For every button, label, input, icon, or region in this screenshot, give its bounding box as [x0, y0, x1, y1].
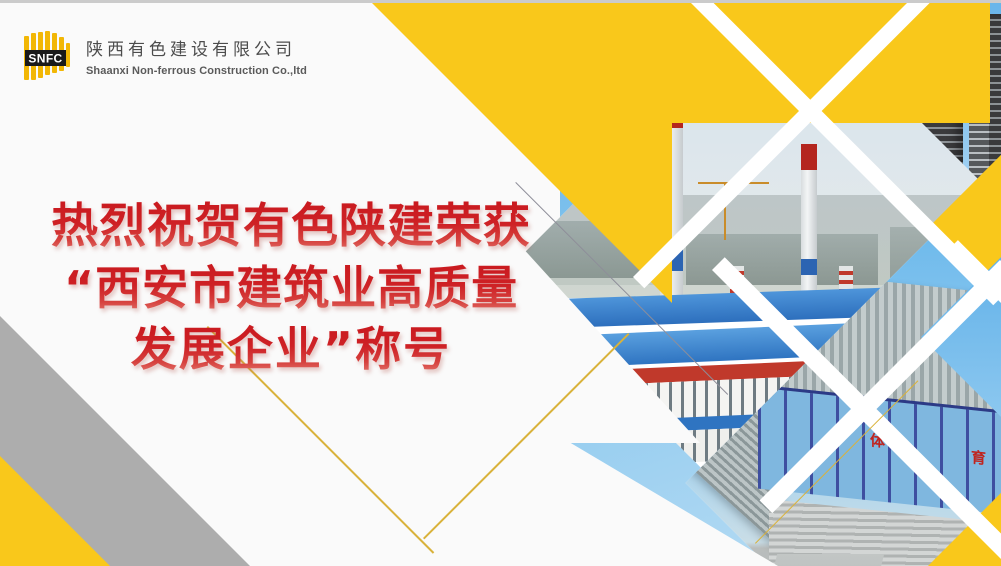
top-frame-line	[0, 0, 1001, 3]
banner-poster: 体 育 馆	[0, 0, 1001, 566]
logo-text-block: 陕西有色建设有限公司 Shaanxi Non-ferrous Construct…	[86, 39, 307, 77]
svg-text:SNFC: SNFC	[28, 52, 62, 66]
headline-line-2: “西安市建筑业高质量	[18, 258, 564, 319]
snfc-bars-logo-icon: SNFC	[22, 30, 74, 86]
stadium-char-2: 育	[971, 447, 986, 470]
headline-line-3: 发展企业”称号	[18, 319, 564, 380]
company-name-cn: 陕西有色建设有限公司	[86, 39, 307, 62]
headline-block: 热烈祝贺有色陕建荣获 “西安市建筑业高质量 发展企业”称号	[18, 196, 564, 379]
company-logo[interactable]: SNFC 陕西有色建设有限公司 Shaanxi Non-ferrous Cons…	[22, 30, 307, 86]
plant-second-chimney	[801, 144, 818, 304]
headline-line-1: 热烈祝贺有色陕建荣获	[18, 196, 564, 258]
company-name-en: Shaanxi Non-ferrous Construction Co.,ltd	[86, 65, 307, 77]
